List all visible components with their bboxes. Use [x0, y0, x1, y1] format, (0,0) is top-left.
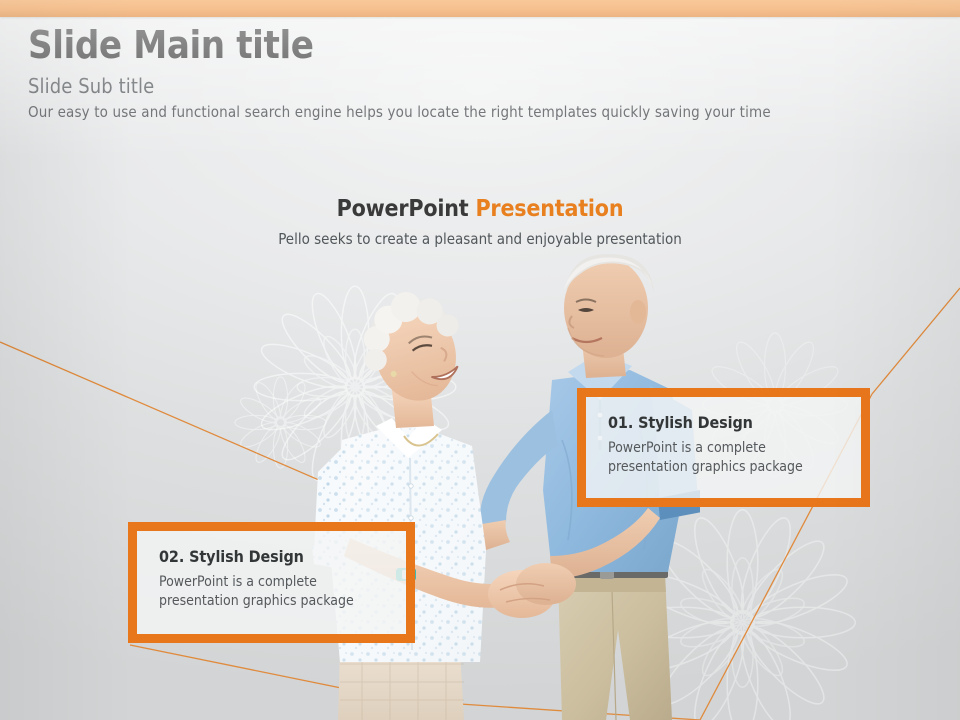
- callout-02-body-line-1: PowerPoint is a complete: [159, 573, 388, 592]
- callout-01-body-line-1: PowerPoint is a complete: [608, 439, 843, 458]
- top-orange-bar: [0, 0, 960, 17]
- center-heading-primary: PowerPoint: [337, 196, 469, 222]
- callout-box-01[interactable]: 01. Stylish Design PowerPoint is a compl…: [577, 388, 870, 507]
- callout-02-title: 02. Stylish Design: [159, 547, 388, 566]
- slide-header: Slide Main title Slide Sub title Our eas…: [28, 26, 771, 121]
- center-heading-block: PowerPoint Presentation Pello seeks to c…: [0, 196, 960, 248]
- page-subtitle: Slide Sub title: [28, 74, 771, 98]
- center-heading: PowerPoint Presentation: [0, 196, 960, 222]
- callout-box-02[interactable]: 02. Stylish Design PowerPoint is a compl…: [128, 522, 415, 643]
- callout-02-body-line-2: presentation graphics package: [159, 592, 388, 611]
- callout-01-body: PowerPoint is a complete presentation gr…: [608, 439, 843, 477]
- page-title: Slide Main title: [28, 26, 771, 66]
- page-subtitle-description: Our easy to use and functional search en…: [28, 103, 771, 121]
- center-heading-accent: Presentation: [475, 196, 623, 222]
- callout-01-title: 01. Stylish Design: [608, 413, 843, 432]
- diagonal-line-right-upper: [872, 288, 960, 394]
- slide-canvas: Slide Main title Slide Sub title Our eas…: [0, 0, 960, 720]
- callout-02-body: PowerPoint is a complete presentation gr…: [159, 573, 388, 611]
- callout-01-body-line-2: presentation graphics package: [608, 458, 843, 477]
- center-description: Pello seeks to create a pleasant and enj…: [0, 230, 960, 248]
